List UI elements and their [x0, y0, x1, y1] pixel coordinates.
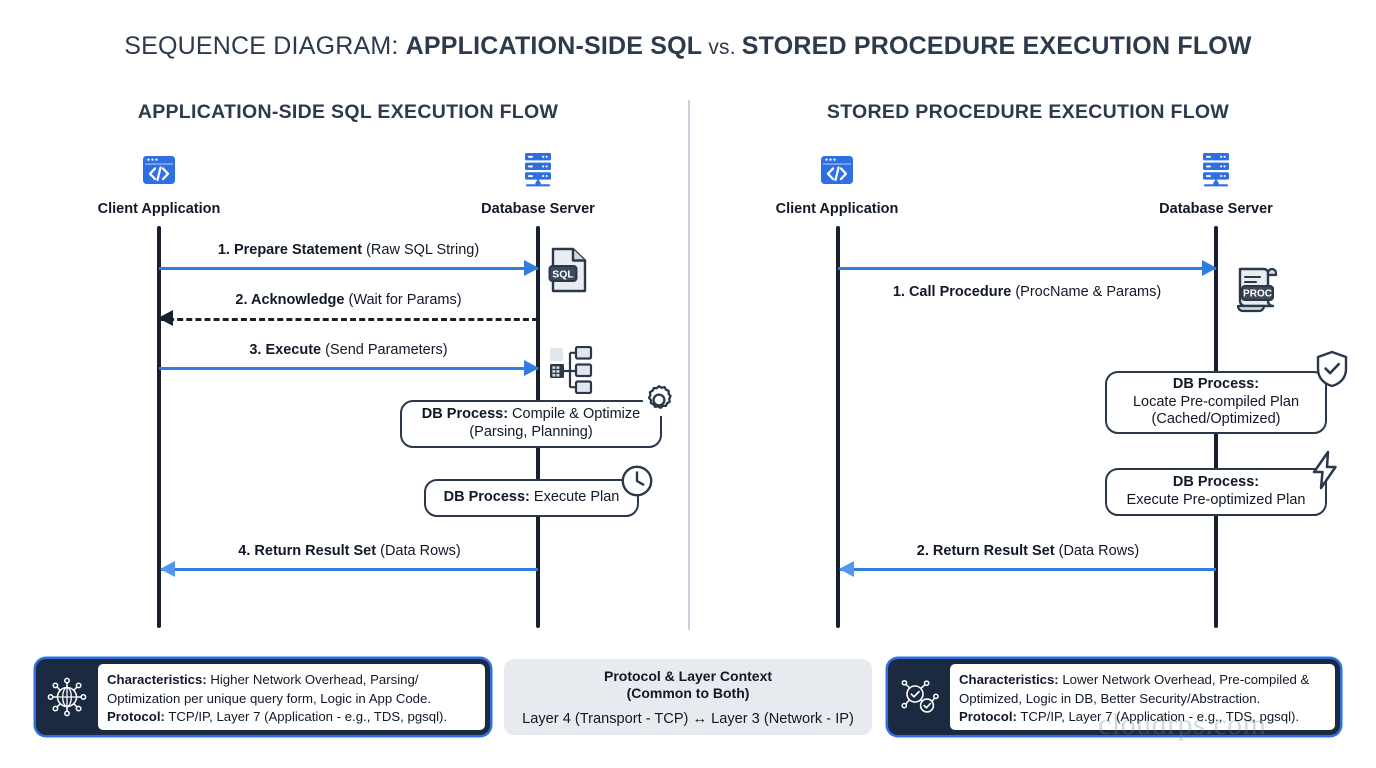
actor-database-server-right: Database Server [1116, 148, 1316, 217]
arrowhead-icon [1202, 260, 1217, 276]
clock-icon [620, 464, 654, 503]
center-card-title: Protocol & Layer Context (Common to Both… [604, 668, 772, 703]
message-right-2: 2. Return Result Set (Data Rows) [840, 568, 1216, 571]
center-card-detail: Layer 4 (Transport - TCP) ↔ Layer 3 (Net… [522, 711, 854, 727]
message-label: 2. Acknowledge (Wait for Params) [159, 292, 538, 308]
process-bold: DB Process: [422, 406, 508, 422]
protocol-line: Protocol: TCP/IP, Layer 7 (Application -… [107, 708, 476, 727]
process-line-1: DB Process: [1173, 376, 1259, 394]
message-bold: Return Result Set [933, 543, 1055, 559]
actor-label: Client Application [737, 201, 937, 217]
message-label: 1. Call Procedure (ProcName & Params) [838, 284, 1216, 300]
message-bold: Call Procedure [909, 284, 1011, 300]
message-number: 2. [917, 543, 933, 559]
message-label: 1. Prepare Statement (Raw SQL String) [159, 242, 538, 258]
proc-scroll-icon: PROC [1232, 265, 1278, 318]
message-left-3: 3. Execute (Send Parameters) [159, 367, 538, 370]
message-label: 4. Return Result Set (Data Rows) [161, 543, 538, 559]
message-line [840, 568, 1216, 571]
footer-card-left-body: Characteristics: Higher Network Overhead… [98, 664, 485, 730]
actor-label: Database Server [438, 201, 638, 217]
process-box-right-2: DB Process: Execute Pre-optimized Plan [1105, 468, 1327, 516]
page-title: SEQUENCE DIAGRAM: APPLICATION-SIDE SQL v… [0, 32, 1376, 61]
footer-card-right: Characteristics: Lower Network Overhead,… [888, 659, 1340, 735]
title-part-2: APPLICATION-SIDE SQL [406, 32, 703, 60]
arrowhead-icon [158, 310, 173, 326]
actor-client-application-left: Client Application [59, 148, 259, 217]
message-right-1: 1. Call Procedure (ProcName & Params) [838, 267, 1216, 270]
message-left-2: 2. Acknowledge (Wait for Params) [159, 317, 538, 320]
center-card-title-line-2: (Common to Both) [604, 685, 772, 703]
protocol-text: TCP/IP, Layer 7 (Application - e.g., TDS… [165, 709, 447, 724]
process-line-3: (Cached/Optimized) [1152, 411, 1281, 429]
message-number: 1. [893, 284, 909, 300]
panel-divider [688, 100, 690, 630]
message-line [161, 568, 538, 571]
arrowhead-icon [524, 360, 539, 376]
sql-file-icon: SQL [548, 246, 590, 299]
panel-heading-right: STORED PROCEDURE EXECUTION FLOW [710, 101, 1346, 124]
message-bold: Execute [265, 342, 321, 358]
actor-label: Client Application [59, 201, 259, 217]
title-part-3: vs. [702, 36, 742, 59]
process-rest: Compile & Optimize [508, 406, 640, 422]
characteristics-label: Characteristics: [107, 672, 207, 687]
code-window-icon [59, 148, 259, 192]
characteristics-line: Characteristics: Higher Network Overhead… [107, 671, 476, 708]
process-line-1: DB Process: [1173, 474, 1259, 492]
message-bold: Return Result Set [254, 543, 376, 559]
actor-label: Database Server [1116, 201, 1316, 217]
message-left-4: 4. Return Result Set (Data Rows) [161, 568, 538, 571]
diagram-canvas: SEQUENCE DIAGRAM: APPLICATION-SIDE SQL v… [0, 0, 1376, 768]
protocol-text: TCP/IP, Layer 7 (Application - e.g., TDS… [1017, 709, 1299, 724]
code-window-icon [737, 148, 937, 192]
message-bold: Acknowledge [251, 292, 344, 308]
process-line-2: Execute Pre-optimized Plan [1127, 492, 1306, 510]
process-line-2: (Parsing, Planning) [469, 424, 592, 442]
lightning-icon [1308, 450, 1342, 495]
message-number: 2. [235, 292, 251, 308]
protocol-line: Protocol: TCP/IP, Layer 7 (Application -… [959, 708, 1326, 727]
process-line-2: Locate Pre-compiled Plan [1133, 394, 1299, 412]
process-line-1: DB Process: Execute Plan [444, 489, 620, 507]
message-line [159, 367, 538, 370]
characteristics-label: Characteristics: [959, 672, 1059, 687]
database-server-icon [1116, 148, 1316, 192]
message-rest: (Send Parameters) [321, 342, 448, 358]
protocol-label: Protocol: [959, 709, 1017, 724]
network-verified-icon [888, 659, 950, 735]
message-line [838, 267, 1216, 270]
panel-heading-left: APPLICATION-SIDE SQL EXECUTION FLOW [30, 101, 666, 124]
message-line [159, 318, 538, 321]
process-bold: DB Process: [444, 489, 530, 505]
process-bold: DB Process: [1173, 376, 1259, 392]
footer-card-center: Protocol & Layer Context (Common to Both… [504, 659, 872, 735]
arrowhead-icon [160, 561, 175, 577]
message-number: 3. [249, 342, 265, 358]
arrowhead-icon [524, 260, 539, 276]
network-hub-icon [36, 659, 98, 735]
message-rest: (Data Rows) [376, 543, 461, 559]
process-box-right-1: DB Process: Locate Pre-compiled Plan (Ca… [1105, 371, 1327, 434]
title-part-4: STORED PROCEDURE EXECUTION FLOW [742, 32, 1252, 60]
center-card-title-line-1: Protocol & Layer Context [604, 668, 772, 686]
message-number: 4. [238, 543, 254, 559]
shield-check-icon [1315, 350, 1349, 393]
message-number: 1. [218, 242, 234, 258]
data-flow-icon [548, 346, 594, 399]
characteristics-line: Characteristics: Lower Network Overhead,… [959, 671, 1326, 708]
svg-text:PROC: PROC [1243, 289, 1272, 300]
process-rest: Execute Plan [530, 489, 619, 505]
process-line-1: DB Process: Compile & Optimize [422, 406, 640, 424]
message-rest: (Data Rows) [1055, 543, 1140, 559]
message-bold: Prepare Statement [234, 242, 362, 258]
message-line [159, 267, 538, 270]
process-bold: DB Process: [1173, 474, 1259, 490]
arrowhead-icon [839, 561, 854, 577]
message-rest: (Raw SQL String) [362, 242, 479, 258]
actor-client-application-right: Client Application [737, 148, 937, 217]
process-box-left-2: DB Process: Execute Plan [424, 479, 639, 517]
message-left-1: 1. Prepare Statement (Raw SQL String) [159, 267, 538, 270]
title-part-1: SEQUENCE DIAGRAM: [124, 32, 405, 60]
message-rest: (Wait for Params) [344, 292, 461, 308]
gear-icon [641, 382, 677, 423]
process-box-left-1: DB Process: Compile & Optimize (Parsing,… [400, 400, 662, 448]
footer-card-left: Characteristics: Higher Network Overhead… [36, 659, 490, 735]
database-server-icon [438, 148, 638, 192]
message-label: 2. Return Result Set (Data Rows) [840, 543, 1216, 559]
svg-text:SQL: SQL [552, 268, 574, 280]
message-label: 3. Execute (Send Parameters) [159, 342, 538, 358]
protocol-label: Protocol: [107, 709, 165, 724]
message-rest: (ProcName & Params) [1011, 284, 1161, 300]
footer-card-right-body: Characteristics: Lower Network Overhead,… [950, 664, 1335, 730]
actor-database-server-left: Database Server [438, 148, 638, 217]
